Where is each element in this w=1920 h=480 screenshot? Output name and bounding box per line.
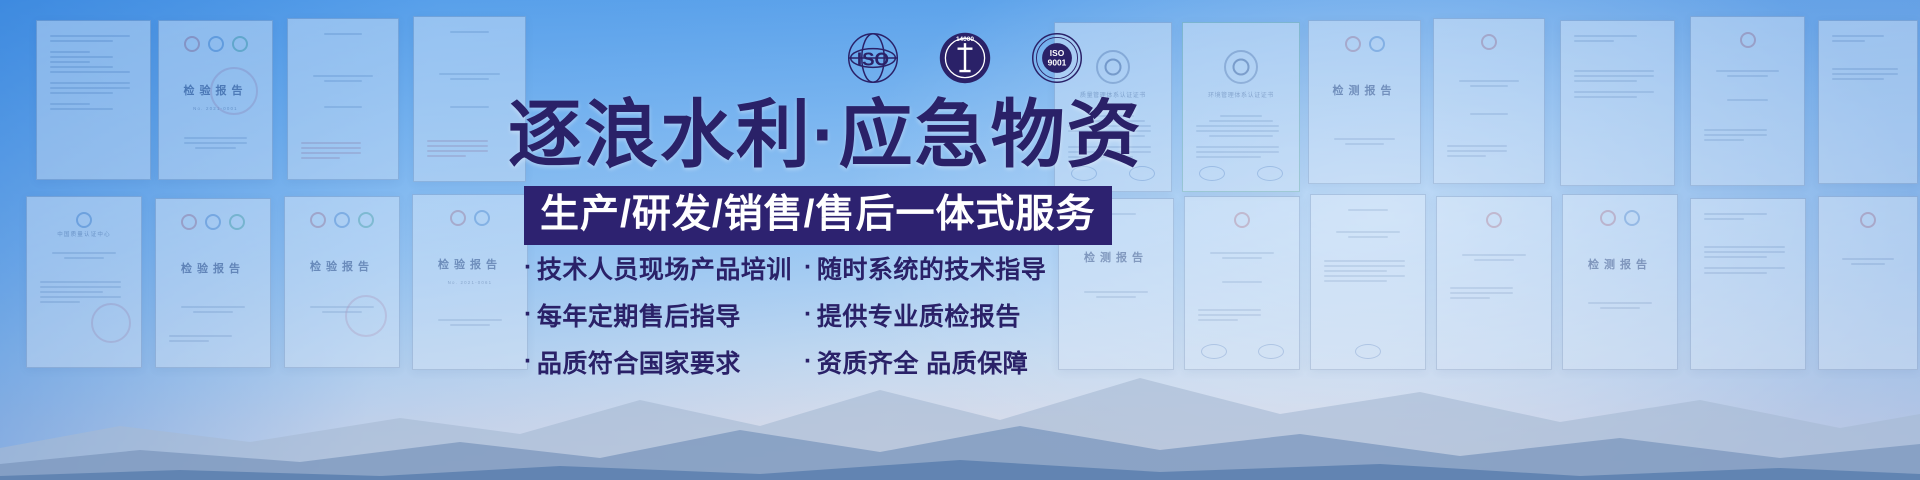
bullet-icon: · (524, 302, 533, 327)
feature-label: 资质齐全 品质保障 (817, 344, 1028, 380)
page-title: 逐浪水利·应急物资 (508, 98, 1568, 172)
svg-text:ISO: ISO (857, 48, 889, 69)
bullet-icon: · (524, 349, 533, 374)
iso-9001-badge: ISO 9001 (1029, 30, 1085, 86)
feature-item: · 技术人员现场产品培训 (524, 250, 804, 286)
certification-badges: ISO 14000 ISO 9001 (845, 30, 1085, 86)
subtitle-text: 生产/研发/销售/售后一体式服务 (540, 195, 1096, 234)
feature-item: · 每年定期售后指导 (524, 297, 804, 333)
feature-label: 每年定期售后指导 (537, 297, 741, 333)
svg-text:9001: 9001 (1048, 57, 1067, 67)
feature-item: · 品质符合国家要求 (524, 344, 804, 380)
feature-label: 随时系统的技术指导 (817, 250, 1047, 286)
bullet-icon: · (804, 349, 813, 374)
feature-label: 提供专业质检报告 (817, 297, 1021, 333)
subtitle-banner: 生产/研发/销售/售后一体式服务 (524, 186, 1112, 245)
svg-text:14000: 14000 (956, 36, 974, 43)
promo-banner: 检验报告 No. 2021-0001 (0, 0, 1920, 480)
feature-list: · 技术人员现场产品培训 · 随时系统的技术指导 · 每年定期售后指导 · 提供… (524, 244, 1084, 385)
bullet-icon: · (524, 255, 533, 280)
iso-badge: ISO (845, 30, 901, 86)
feature-item: · 提供专业质检报告 (804, 297, 1084, 333)
banner-content: ISO 14000 ISO 9001 逐浪水利·应急物资 生产/研发/销售/售后… (0, 0, 1920, 480)
iso-14000-badge: 14000 (937, 30, 993, 86)
bullet-icon: · (804, 255, 813, 280)
feature-label: 技术人员现场产品培训 (537, 250, 792, 286)
feature-item: · 资质齐全 品质保障 (804, 344, 1084, 380)
bullet-icon: · (804, 302, 813, 327)
feature-label: 品质符合国家要求 (537, 344, 741, 380)
feature-item: · 随时系统的技术指导 (804, 250, 1084, 286)
